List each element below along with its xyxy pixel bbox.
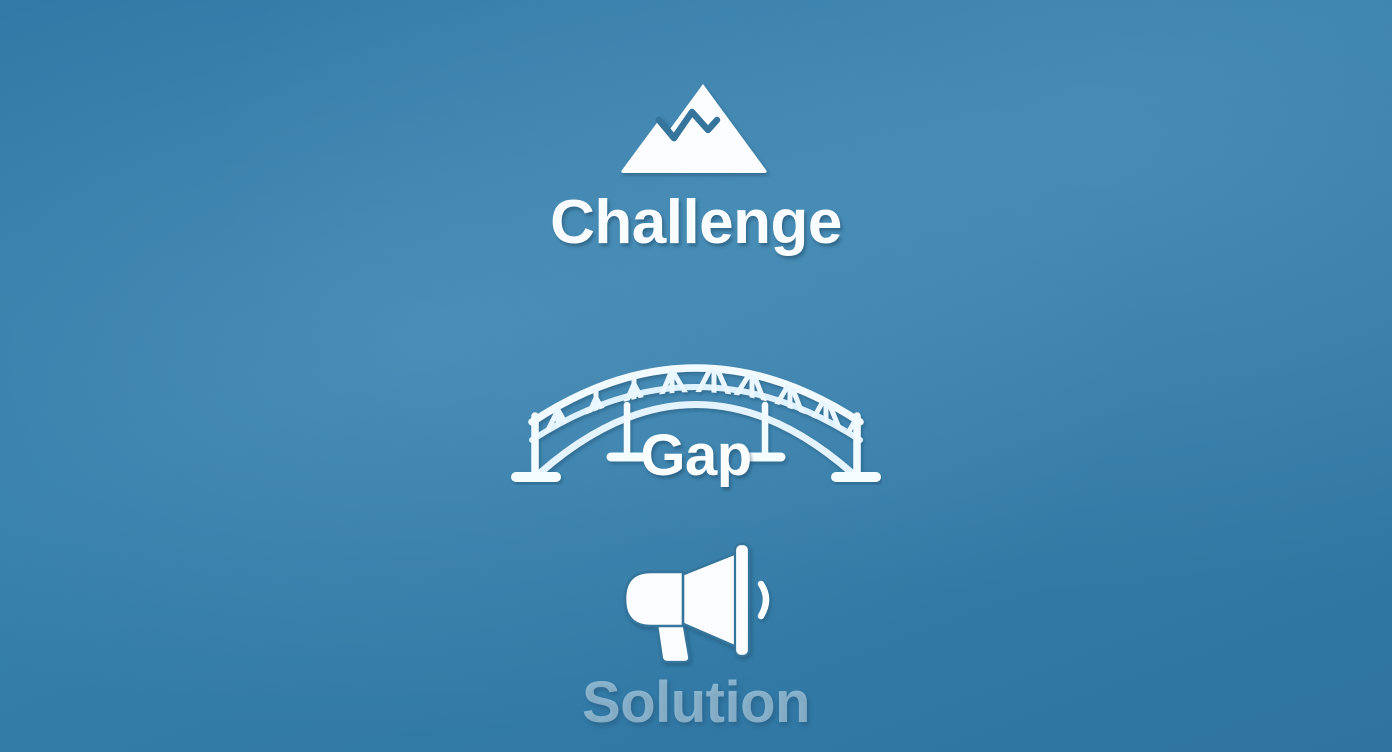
step-gap: Gap (0, 330, 1392, 485)
megaphone-icon (611, 540, 781, 668)
mountain-icon (616, 78, 776, 178)
step-label-solution: Solution (582, 674, 810, 732)
step-solution: Solution (0, 540, 1392, 732)
step-label-challenge: Challenge (550, 192, 842, 254)
slide-canvas: Challenge (0, 0, 1392, 752)
step-challenge: Challenge (0, 78, 1392, 254)
step-label-gap: Gap (640, 427, 751, 485)
